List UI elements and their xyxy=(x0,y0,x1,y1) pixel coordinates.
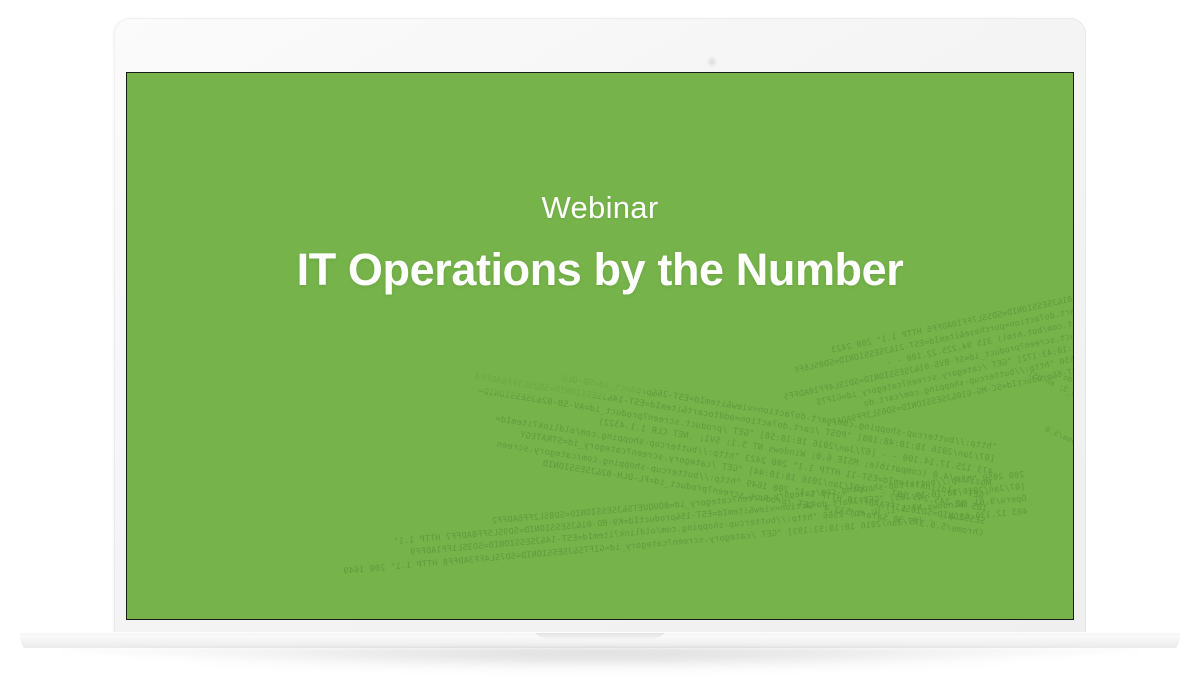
code-texture-block-b: "http://buttercup-shopping.com/cart.do?a… xyxy=(172,314,997,541)
webcam-icon xyxy=(708,58,716,66)
wave-overlay xyxy=(127,73,1073,619)
screenshot-stage: 9-EST=bItemId=viewitem&action=do.cart/co… xyxy=(0,0,1200,684)
slide-canvas: 9-EST=bItemId=viewitem&action=do.cart/co… xyxy=(127,73,1073,619)
code-texture-block-e: 200 2050 "http://buttercup-shopping.com/… xyxy=(127,468,1028,595)
slide-headline: IT Operations by the Number xyxy=(127,245,1073,295)
slide-text-group: Webinar IT Operations by the Number xyxy=(127,191,1073,295)
laptop-base-notch xyxy=(536,633,664,640)
laptop-base-body xyxy=(20,632,1180,648)
slide-eyebrow: Webinar xyxy=(127,191,1073,225)
floor-shadow xyxy=(150,650,1050,672)
laptop-screen: 9-EST=bItemId=viewitem&action=do.cart/co… xyxy=(126,72,1074,620)
